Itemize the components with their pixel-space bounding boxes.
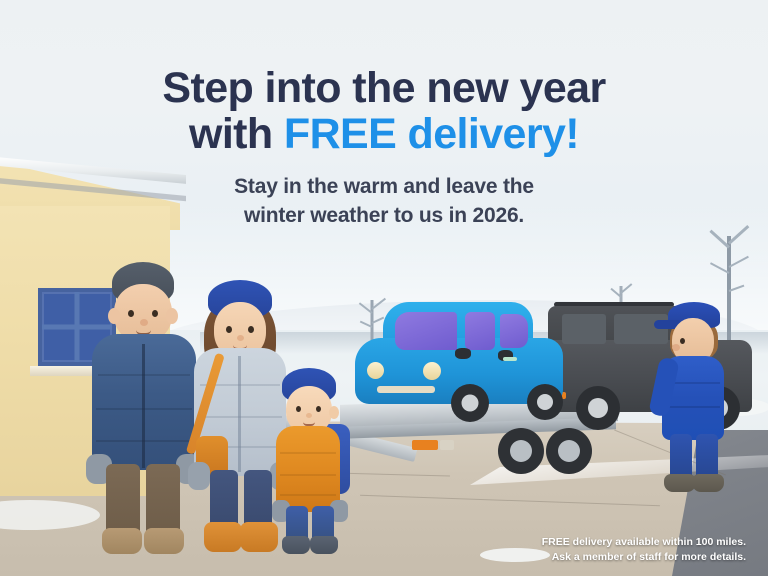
woman-boot	[204, 522, 242, 552]
headline-accent-free: FREE	[284, 110, 396, 158]
delivery-staff-member	[660, 300, 730, 490]
suv-rear-window	[562, 314, 606, 344]
man-boot	[144, 528, 184, 554]
child-coat-seam	[280, 474, 336, 476]
promotional-banner: Step into the new year with FREE deliver…	[0, 0, 768, 576]
family-member-child	[274, 368, 350, 556]
man-eye	[128, 310, 134, 317]
staff-nose	[672, 344, 680, 351]
trailer-indicator-light	[440, 440, 454, 450]
child-eye	[296, 406, 301, 412]
snow-patch	[480, 548, 550, 562]
suv-wheel	[576, 386, 620, 430]
headline-line-2-prefix: with	[189, 110, 284, 158]
man-boot	[102, 528, 142, 554]
child-ear	[329, 406, 339, 419]
man-trouser-leg	[146, 464, 180, 538]
child-nose	[306, 413, 312, 418]
car-windscreen	[395, 312, 457, 350]
woman-nose	[237, 335, 244, 341]
blue-car-on-trailer	[355, 300, 565, 420]
subheading: Stay in the warm and leave the winter we…	[0, 173, 768, 230]
staff-boot	[692, 474, 724, 492]
headline-line-2: with FREE delivery!	[0, 112, 768, 158]
man-ear	[166, 308, 178, 324]
fineprint-line-2: Ask a member of staff for more details.	[542, 550, 746, 566]
trailer-indicator-light	[412, 440, 438, 450]
car-headlight	[423, 362, 441, 380]
fineprint-disclaimer: FREE delivery available within 100 miles…	[542, 535, 746, 567]
staff-jacket-seam	[666, 406, 720, 408]
subheading-line-1: Stay in the warm and leave the	[0, 173, 768, 201]
child-puffer-coat	[276, 426, 340, 512]
headline-line-1: Step into the new year	[0, 66, 768, 112]
child-shoe	[282, 536, 310, 554]
car-wing-mirror	[455, 348, 471, 359]
car-wheel-rear	[527, 384, 563, 420]
car-headlight	[367, 362, 384, 379]
man-coat-zip	[142, 344, 145, 468]
headline: Step into the new year with FREE deliver…	[0, 66, 768, 157]
woman-eye	[226, 326, 232, 333]
car-wheel-front	[451, 384, 489, 422]
child-shoe	[310, 536, 338, 554]
car-side-window-front	[465, 312, 495, 350]
man-ear	[108, 308, 120, 324]
man-eye	[152, 310, 158, 317]
woman-eye	[248, 326, 254, 333]
car-front-grille	[377, 386, 435, 393]
woman-glove	[188, 462, 210, 490]
car-side-window-rear	[500, 314, 528, 348]
car-door-handle	[503, 357, 517, 361]
banner-text-block: Step into the new year with FREE deliver…	[0, 66, 768, 230]
family-member-man	[88, 262, 198, 552]
headline-line-2-suffix: delivery!	[396, 110, 579, 158]
fineprint-line-1: FREE delivery available within 100 miles…	[542, 535, 746, 551]
woman-boot	[240, 522, 278, 552]
staff-eye	[680, 338, 685, 344]
man-trouser-leg	[106, 464, 140, 538]
trailer-wheel	[498, 428, 544, 474]
man-nose	[140, 319, 148, 326]
child-coat-seam	[280, 494, 336, 496]
child-eye	[316, 406, 321, 412]
child-coat-seam	[280, 452, 336, 454]
subheading-line-2: winter weather to us in 2026.	[0, 202, 768, 230]
woman-coat-zip	[238, 356, 241, 472]
